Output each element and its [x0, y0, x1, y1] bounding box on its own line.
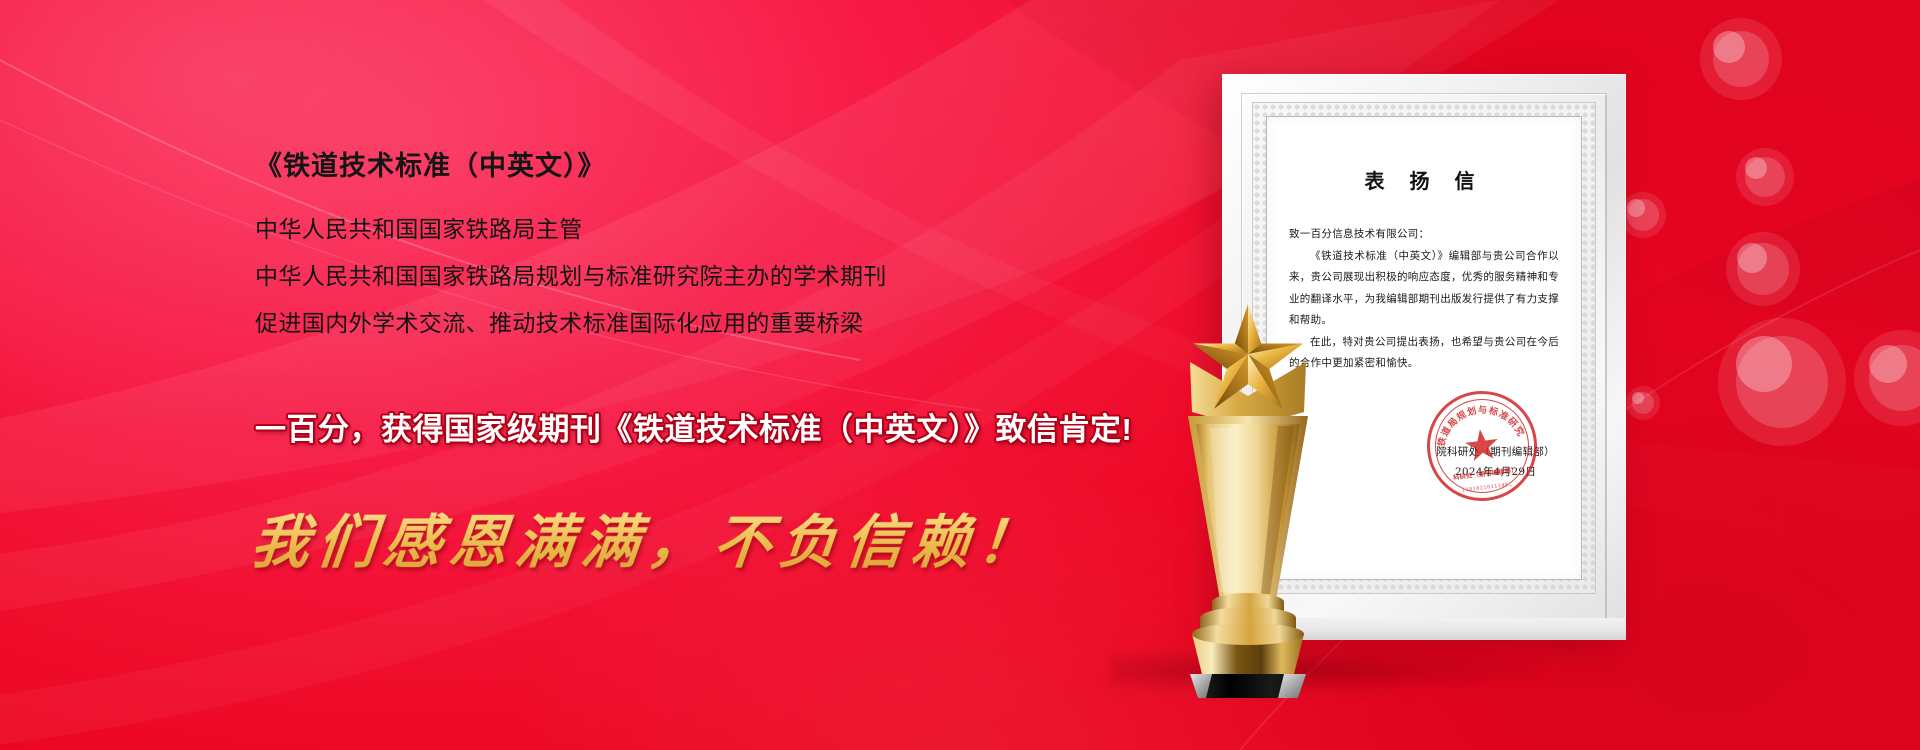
bokeh-ring	[1620, 192, 1666, 238]
certificate-salutation: 致一百分信息技术有限公司：	[1289, 224, 1559, 246]
banner-copy: 《铁道技术标准（中英文）》 中华人民共和国国家铁路局主管 中华人民共和国国家铁路…	[255, 150, 1155, 335]
bokeh-ring	[1626, 386, 1660, 420]
bokeh-ring	[1700, 18, 1782, 100]
description-line-1: 中华人民共和国国家铁路局主管	[255, 218, 1155, 241]
description-line-3: 促进国内外学术交流、推动技术标准国际化应用的重要桥梁	[255, 312, 1155, 335]
bokeh-ring	[1736, 148, 1794, 206]
background-glow	[0, 0, 1920, 750]
gratitude-calligraphy: 我们感恩满满，不负信赖！	[248, 495, 1049, 579]
description-line-2: 中华人民共和国国家铁路局规划与标准研究院主办的学术期刊	[255, 265, 1155, 288]
award-headline: 一百分，获得国家级期刊《铁道技术标准（中英文）》致信肯定!	[255, 404, 1132, 449]
official-seal-stamp: 铁道局规划与标准研究 科研处（期刊编辑部） 1101021011140…	[1421, 385, 1544, 508]
certificate-title: 表 扬 信	[1267, 165, 1581, 194]
journal-title: 《铁道技术标准（中英文）》	[255, 150, 1155, 182]
bokeh-ring	[1718, 318, 1846, 446]
award-banner: 《铁道技术标准（中英文）》 中华人民共和国国家铁路局主管 中华人民共和国国家铁路…	[0, 0, 1920, 750]
star-trophy-icon	[1128, 300, 1368, 700]
bokeh-ring	[1726, 232, 1800, 306]
